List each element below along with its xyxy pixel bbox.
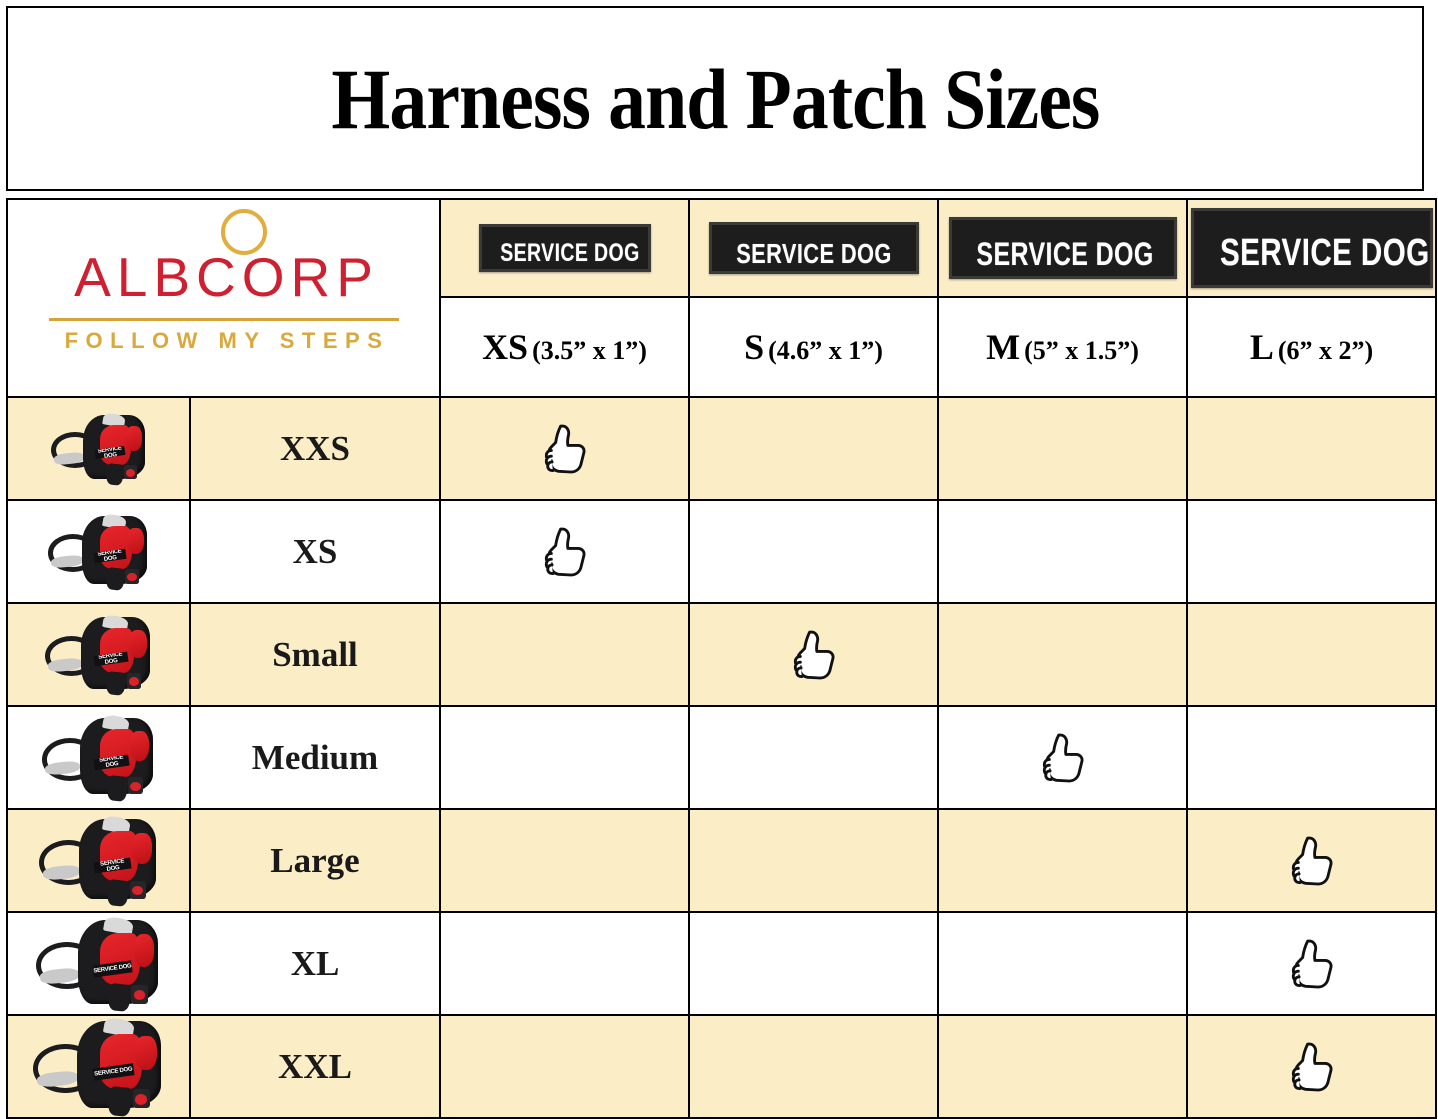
harness-leg-strap — [108, 983, 132, 1012]
patch-label-s: SERVICE DOG — [734, 240, 893, 268]
harness-size-label: XS — [190, 500, 440, 603]
dog-harness-icon: SERVICE DOG — [37, 817, 161, 904]
brand-tagline: FOLLOW MY STEPS — [58, 330, 390, 352]
patch-size-cell-m: M(5” x 1.5”) — [938, 297, 1187, 397]
harness-red-dot — [134, 990, 146, 1000]
header-row-patches: ALBCORP FOLLOW MY STEPS SERVICE DOG SERV… — [7, 199, 1436, 297]
patch-header-cell-xs: SERVICE DOG — [440, 199, 689, 297]
patch-size-dimensions-m: (5” x 1.5”) — [1024, 336, 1139, 365]
harness-size-label: XXS — [190, 397, 440, 500]
thumbs-up-icon — [542, 526, 588, 578]
harness-red-dot — [130, 782, 141, 791]
harness-red-dot — [126, 469, 135, 477]
thumbs-up-icon — [1040, 732, 1086, 784]
brand-logo-cell: ALBCORP FOLLOW MY STEPS — [7, 199, 440, 397]
harness-red-dot — [127, 573, 137, 581]
match-cell-xs-m — [938, 500, 1187, 603]
patch-label-m: SERVICE DOG — [976, 238, 1149, 270]
match-cell-xl-l — [1187, 912, 1436, 1015]
patch-size-cell-xs: XS(3.5” x 1”) — [440, 297, 689, 397]
service-dog-patch-l: SERVICE DOG — [1191, 208, 1433, 288]
harness-red-side-panel — [126, 426, 142, 451]
harness-image-cell-medium: SERVICE DOG — [7, 706, 190, 809]
match-cell-large-m — [938, 809, 1187, 912]
dog-harness-icon: SERVICE DOG — [46, 515, 152, 589]
service-dog-patch-s: SERVICE DOG — [709, 222, 919, 274]
table-row: SERVICE DOGXXS — [7, 397, 1436, 500]
harness-image-cell-xxs: SERVICE DOG — [7, 397, 190, 500]
harness-leg-strap — [108, 1086, 133, 1117]
patch-size-cell-l: L(6” x 2”) — [1187, 297, 1436, 397]
patch-size-dimensions-l: (6” x 2”) — [1278, 336, 1373, 365]
match-cell-small-xs — [440, 603, 689, 706]
dog-harness-icon: SERVICE DOG — [49, 414, 149, 484]
harness-image-cell-xl: SERVICE DOG — [7, 912, 190, 1015]
thumbs-up-icon — [542, 423, 588, 475]
thumbs-up-icon — [1289, 835, 1335, 887]
table-row: SERVICE DOGLarge — [7, 809, 1436, 912]
patch-size-dimensions-s: (4.6” x 1”) — [768, 336, 883, 365]
table-row: SERVICE DOGSmall — [7, 603, 1436, 706]
match-cell-medium-xs — [440, 706, 689, 809]
match-cell-xxs-s — [689, 397, 938, 500]
patch-size-letter-s: S — [744, 327, 764, 367]
match-cell-xs-s — [689, 500, 938, 603]
dog-harness-icon: SERVICE DOG — [34, 918, 164, 1009]
match-cell-medium-s — [689, 706, 938, 809]
harness-size-label: Small — [190, 603, 440, 706]
harness-patch-size-table: ALBCORP FOLLOW MY STEPS SERVICE DOG SERV… — [6, 198, 1437, 1119]
match-cell-xxl-xs — [440, 1015, 689, 1118]
harness-red-side-panel — [129, 630, 147, 658]
harness-leg-strap — [106, 671, 126, 696]
harness-size-label: XXL — [190, 1015, 440, 1118]
match-cell-xxl-m — [938, 1015, 1187, 1118]
match-cell-small-l — [1187, 603, 1436, 706]
match-cell-xxl-l — [1187, 1015, 1436, 1118]
match-cell-xl-m — [938, 912, 1187, 1015]
title-band: Harness and Patch Sizes — [6, 6, 1424, 191]
match-cell-xl-xs — [440, 912, 689, 1015]
harness-red-side-panel — [130, 731, 149, 761]
patch-size-letter-l: L — [1250, 327, 1274, 367]
service-dog-patch-xs: SERVICE DOG — [479, 224, 651, 272]
patch-size-cell-s: S(4.6” x 1”) — [689, 297, 938, 397]
match-cell-medium-l — [1187, 706, 1436, 809]
harness-red-side-panel — [132, 833, 152, 864]
thumbs-up-icon — [1289, 938, 1335, 990]
service-dog-patch-m: SERVICE DOG — [949, 217, 1177, 279]
match-cell-xs-xs — [440, 500, 689, 603]
harness-leg-strap — [105, 463, 123, 486]
match-cell-medium-m — [938, 706, 1187, 809]
match-cell-large-xs — [440, 809, 689, 912]
table-row: SERVICE DOGXS — [7, 500, 1436, 603]
harness-red-side-panel — [127, 528, 144, 555]
patch-size-dimensions-xs: (3.5” x 1”) — [532, 336, 647, 365]
match-cell-xxs-xs — [440, 397, 689, 500]
match-cell-xxl-s — [689, 1015, 938, 1118]
table-row: SERVICE DOGXL — [7, 912, 1436, 1015]
match-cell-large-l — [1187, 809, 1436, 912]
patch-header-cell-s: SERVICE DOG — [689, 199, 938, 297]
match-cell-xl-s — [689, 912, 938, 1015]
match-cell-xxs-m — [938, 397, 1187, 500]
thumbs-up-icon — [1289, 1041, 1335, 1093]
harness-leg-strap — [107, 775, 128, 802]
harness-size-label: Large — [190, 809, 440, 912]
match-cell-large-s — [689, 809, 938, 912]
dog-harness-icon: SERVICE DOG — [40, 716, 158, 799]
patch-header-cell-m: SERVICE DOG — [938, 199, 1187, 297]
match-cell-xs-l — [1187, 500, 1436, 603]
patch-label-l: SERVICE DOG — [1219, 234, 1403, 272]
harness-leg-strap — [107, 879, 129, 907]
harness-size-label: XL — [190, 912, 440, 1015]
patch-header-cell-l: SERVICE DOG — [1187, 199, 1436, 297]
harness-image-cell-small: SERVICE DOG — [7, 603, 190, 706]
dog-harness-icon: SERVICE DOG — [31, 1019, 167, 1114]
harness-red-side-panel — [135, 1036, 157, 1070]
patch-size-letter-m: M — [986, 327, 1020, 367]
table-row: SERVICE DOGMedium — [7, 706, 1436, 809]
size-chart-page: Harness and Patch Sizes ALBCORP FOLLOW M… — [0, 0, 1438, 1112]
harness-image-cell-large: SERVICE DOG — [7, 809, 190, 912]
brand-logo-wordmark: ALBCORP — [68, 250, 379, 305]
harness-leg-strap — [106, 567, 125, 591]
logo-divider — [49, 318, 399, 321]
patch-label-xs: SERVICE DOG — [500, 241, 629, 266]
thumbs-up-icon — [791, 629, 837, 681]
harness-image-cell-xs: SERVICE DOG — [7, 500, 190, 603]
harness-image-cell-xxl: SERVICE DOG — [7, 1015, 190, 1118]
match-cell-small-s — [689, 603, 938, 706]
table-row: SERVICE DOGXXL — [7, 1015, 1436, 1118]
harness-red-dot — [129, 677, 139, 686]
harness-size-label: Medium — [190, 706, 440, 809]
match-cell-xxs-l — [1187, 397, 1436, 500]
harness-red-dot — [135, 1094, 147, 1104]
harness-red-side-panel — [134, 934, 155, 967]
match-cell-small-m — [938, 603, 1187, 706]
page-title: Harness and Patch Sizes — [331, 56, 1099, 142]
brand-logo: ALBCORP FOLLOW MY STEPS — [8, 200, 439, 396]
patch-size-letter-xs: XS — [482, 327, 528, 367]
dog-harness-icon: SERVICE DOG — [43, 616, 155, 694]
